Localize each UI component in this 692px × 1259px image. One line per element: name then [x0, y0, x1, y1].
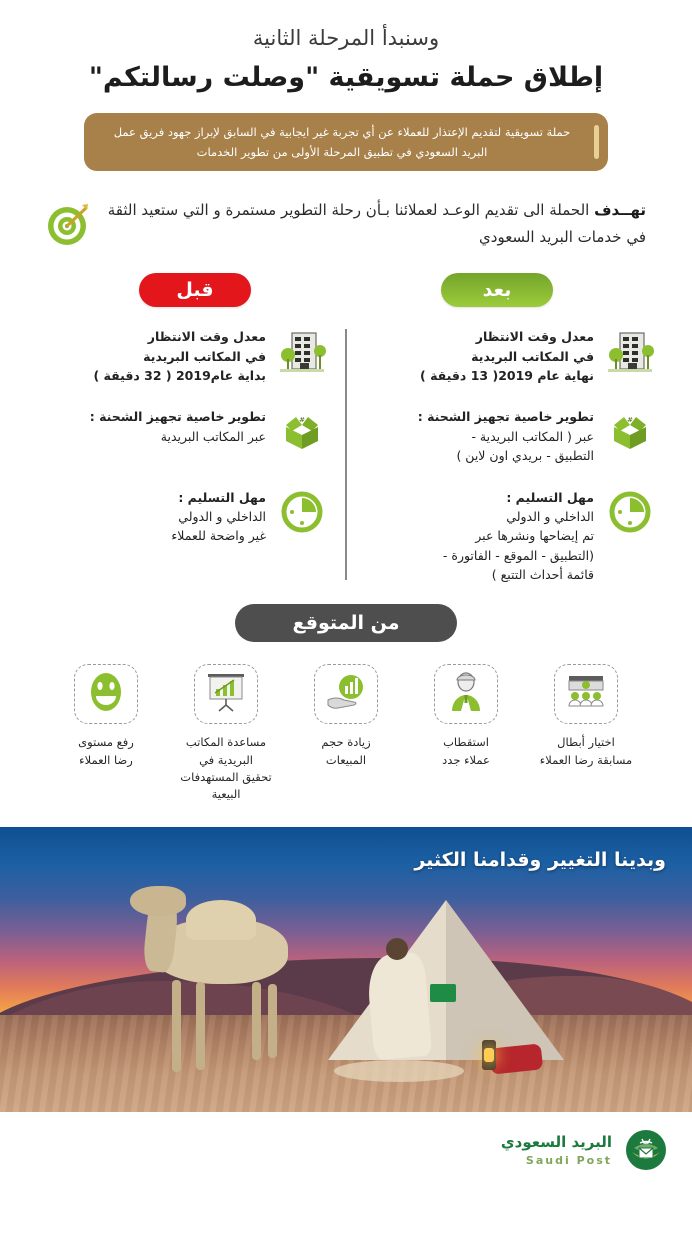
row-line3: تم إيضاحها ونشرها عبر — [364, 526, 594, 545]
open-parcel-box-icon: # — [604, 405, 656, 457]
goal-section: تهــدف الحملة الى تقديم الوعـد لعملائنا … — [0, 197, 692, 251]
expected-heading: من المتوقع — [235, 604, 457, 642]
outcome-line1: رفع مستوى — [78, 735, 134, 749]
row-line3: غير واضحة للعملاء — [36, 526, 266, 545]
outcome-label: استقطاب عملاء جدد — [442, 734, 490, 769]
comparison-text-before: معدل وقت الانتظار في المكاتب البريدية بد… — [36, 325, 266, 385]
row-line3: بداية عام2019 ( 32 دقيقة ) — [36, 366, 266, 385]
camel-leg — [196, 982, 205, 1070]
row-title: مهل التسليم : — [36, 488, 266, 507]
list-item: زيادة حجم المبيعات — [295, 664, 397, 803]
comparison-cell-after: مهل التسليم : الداخلي و الدولي تم إيضاحه… — [346, 486, 674, 585]
list-item: مساعدة المكاتب البريدية في تحقيق المستهد… — [175, 664, 277, 803]
comparison-cell-after: معدل وقت الانتظار في المكاتب البريدية نه… — [346, 325, 674, 385]
outcome-label: رفع مستوى رضا العملاء — [78, 734, 134, 769]
outcome-icon-box — [434, 664, 498, 724]
outcome-line2: المبيعات — [326, 753, 366, 767]
goal-lead: تهــدف — [594, 201, 646, 219]
lantern-glow — [484, 1048, 494, 1062]
comparison-grid: معدل وقت الانتظار في المكاتب البريدية نه… — [0, 325, 692, 584]
row-title: معدل وقت الانتظار — [36, 327, 266, 346]
row-line2: في المكاتب البريدية — [36, 347, 266, 366]
row-line2: عبر ( المكاتب البريدية - — [364, 427, 594, 446]
header: وسنبدأ المرحلة الثانية إطلاق حملة تسويقي… — [0, 0, 692, 93]
row-line4: (التطبيق - الموقع - الفاتورة - — [364, 546, 594, 565]
header-subtitle: وسنبدأ المرحلة الثانية — [0, 26, 692, 50]
logo-text-ar: البريد السعودي — [501, 1133, 612, 1151]
photo-caption: وبدينا التغيير وقدامنا الكثير — [414, 849, 666, 871]
hand-growth-chart-icon — [324, 672, 368, 716]
audience-award-icon — [564, 672, 608, 716]
comparison-cell-before: مهل التسليم : الداخلي و الدولي غير واضحة… — [18, 486, 346, 546]
banner-accent-bar — [594, 125, 599, 159]
comparison-badges: بعد قبل — [0, 273, 692, 307]
comparison-text-after: مهل التسليم : الداخلي و الدولي تم إيضاحه… — [364, 486, 594, 585]
camel-leg — [172, 980, 181, 1072]
comparison-cell-after: # تطوير خاصية تجهيز الشحنة : عبر ( المكا… — [346, 405, 674, 465]
comparison-cell-before: معدل وقت الانتظار في المكاتب البريدية بد… — [18, 325, 346, 385]
row-line2: الداخلي و الدولي — [36, 507, 266, 526]
clock-icon — [276, 486, 328, 538]
row-line2: عبر المكاتب البريدية — [36, 427, 266, 446]
comparison-cell-before: # تطوير خاصية تجهيز الشحنة : عبر المكاتب… — [18, 405, 346, 457]
outcome-line2: مسابقة رضا العملاء — [540, 753, 632, 767]
outcome-label: مساعدة المكاتب البريدية في تحقيق المستهد… — [175, 734, 277, 803]
employee-icon — [446, 671, 486, 717]
outcome-line1: استقطاب — [443, 735, 489, 749]
outcome-icon-box — [554, 664, 618, 724]
expected-section-header: من المتوقع — [0, 604, 692, 642]
post-office-building-icon — [604, 325, 656, 377]
comparison-text-after: معدل وقت الانتظار في المكاتب البريدية نه… — [364, 325, 594, 385]
badge-after: بعد — [441, 273, 553, 307]
smiley-face-icon — [86, 670, 126, 718]
camel-leg — [268, 984, 277, 1058]
infographic-page: وسنبدأ المرحلة الثانية إطلاق حملة تسويقي… — [0, 0, 692, 1259]
description-banner: حملة تسويقية لتقديم الإعتذار للعملاء عن … — [84, 113, 608, 171]
post-office-building-icon — [276, 325, 328, 377]
outcome-icon-box — [314, 664, 378, 724]
row-line2: الداخلي و الدولي — [364, 507, 594, 526]
camel-hump — [186, 900, 256, 940]
expected-outcomes-list: اختيار أبطال مسابقة رضا العملاء استقطاب — [0, 664, 692, 803]
man-robe — [366, 952, 433, 1061]
vertical-divider — [345, 329, 347, 580]
comparison-text-after: تطوير خاصية تجهيز الشحنة : عبر ( المكاتب… — [364, 405, 594, 465]
row-title: مهل التسليم : — [364, 488, 594, 507]
outcome-line2: تحقيق المستهدفات البيعية — [180, 770, 271, 801]
camel-leg — [252, 982, 261, 1060]
description-banner-text: حملة تسويقية لتقديم الإعتذار للعملاء عن … — [106, 122, 578, 162]
list-item: رفع مستوى رضا العملاء — [55, 664, 157, 803]
svg-text:#: # — [627, 416, 633, 424]
outcome-label: اختيار أبطال مسابقة رضا العملاء — [540, 734, 632, 769]
logo-text-en: Saudi Post — [526, 1154, 612, 1167]
list-item: اختيار أبطال مسابقة رضا العملاء — [535, 664, 637, 803]
svg-text:#: # — [299, 416, 305, 424]
clock-icon — [604, 486, 656, 538]
outcome-icon-box — [194, 664, 258, 724]
list-item: استقطاب عملاء جدد — [415, 664, 517, 803]
row-title: تطوير خاصية تجهيز الشحنة : — [364, 407, 594, 426]
green-parcel — [430, 984, 456, 1002]
row-line3: نهاية عام 2019( 13 دقيقة ) — [364, 366, 594, 385]
comparison-text-before: تطوير خاصية تجهيز الشحنة : عبر المكاتب ا… — [36, 405, 266, 446]
row-line3: التطبيق - بريدي اون لاين ) — [364, 446, 594, 465]
row-title: معدل وقت الانتظار — [364, 327, 594, 346]
row-title: تطوير خاصية تجهيز الشحنة : — [36, 407, 266, 426]
row-line2: في المكاتب البريدية — [364, 347, 594, 366]
badge-before: قبل — [139, 273, 251, 307]
outcome-line1: مساعدة المكاتب البريدية في — [186, 735, 266, 766]
outcome-icon-box — [74, 664, 138, 724]
description-banner-wrap: حملة تسويقية لتقديم الإعتذار للعملاء عن … — [0, 113, 692, 171]
outcome-line1: اختيار أبطال — [557, 735, 615, 749]
row-line5: قائمة أحداث التتبع ) — [364, 565, 594, 584]
saudi-post-logo-icon — [624, 1128, 668, 1172]
comparison-text-before: مهل التسليم : الداخلي و الدولي غير واضحة… — [36, 486, 266, 546]
outcome-line1: زيادة حجم — [321, 735, 370, 749]
goal-text: تهــدف الحملة الى تقديم الوعـد لعملائنا … — [106, 197, 646, 251]
tent-shadow — [446, 900, 564, 1060]
saudi-post-wordmark: البريد السعودي Saudi Post — [501, 1133, 612, 1168]
outcome-label: زيادة حجم المبيعات — [321, 734, 370, 769]
outcome-line2: عملاء جدد — [442, 753, 490, 767]
desert-photo: وبدينا التغيير وقدامنا الكثير — [0, 827, 692, 1112]
presentation-chart-icon — [204, 671, 248, 717]
page-title: إطلاق حملة تسويقية "وصلت رسالتكم" — [0, 62, 692, 93]
open-parcel-box-icon: # — [276, 405, 328, 457]
footer: البريد السعودي Saudi Post — [0, 1112, 668, 1172]
goal-body: الحملة الى تقديم الوعـد لعملائنا بـأن رح… — [108, 201, 646, 246]
outcome-line2: رضا العملاء — [79, 753, 133, 767]
target-icon — [46, 201, 92, 247]
camel-head — [130, 886, 186, 916]
